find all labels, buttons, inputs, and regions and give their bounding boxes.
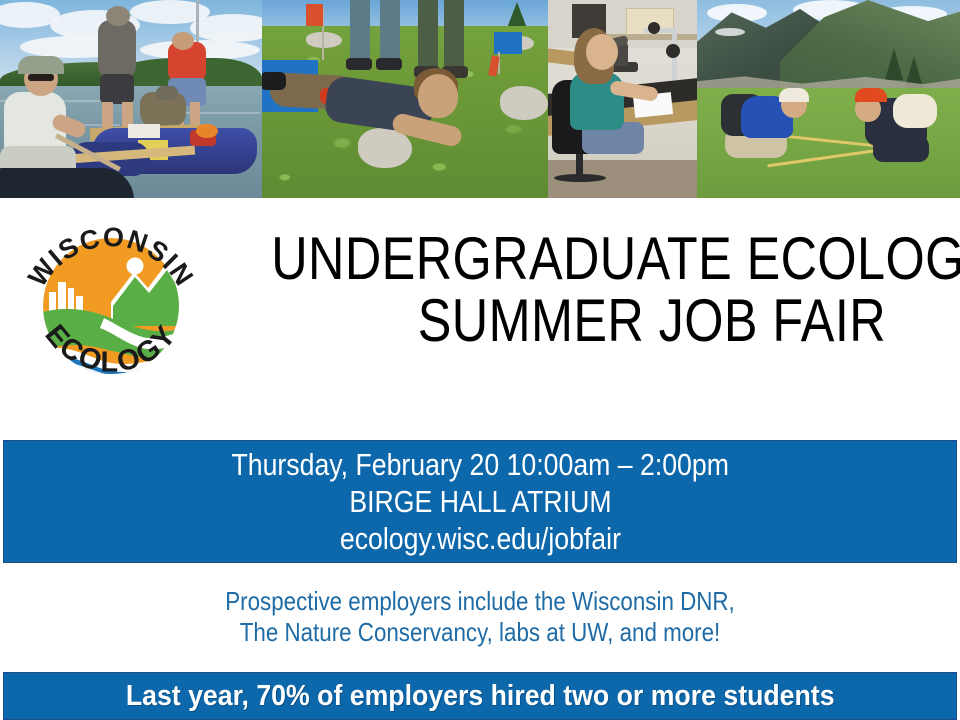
rock — [500, 86, 548, 120]
person-hat — [106, 6, 130, 26]
page-title: UNDERGRADUATE ECOLOGY SUMMER JOB FAIR — [212, 228, 952, 352]
employers-note: Prospective employers include the Wiscon… — [0, 586, 960, 648]
conifer-tree — [885, 48, 903, 80]
person-cap — [18, 56, 64, 74]
blue-survey-flag — [494, 32, 522, 54]
event-url[interactable]: ecology.wisc.edu/jobfair — [339, 520, 620, 557]
snow-patch — [715, 28, 745, 36]
employers-line-2: The Nature Conservancy, labs at UW, and … — [67, 617, 893, 648]
event-details-banner: Thursday, February 20 10:00am – 2:00pm B… — [3, 440, 957, 563]
title-line-1: UNDERGRADUATE ECOLOGY — [271, 228, 893, 290]
life-ring — [196, 124, 218, 138]
person-leg — [444, 0, 464, 72]
boot — [262, 72, 286, 90]
alpine-valley-survey-photo — [697, 0, 960, 198]
adjustment-knob — [666, 44, 680, 58]
lab-microscope-photo — [548, 0, 697, 198]
person-head — [586, 34, 618, 70]
boot — [376, 58, 402, 70]
canoe — [0, 168, 134, 198]
chair-base — [554, 174, 606, 182]
person-shorts — [100, 74, 134, 104]
red-survey-flag — [306, 4, 323, 26]
person-leg — [380, 0, 400, 62]
person-leg — [418, 0, 438, 72]
person-head — [418, 74, 458, 118]
person-cap — [855, 88, 887, 102]
lake-boat-sampling-photo — [0, 0, 262, 198]
person-leg — [350, 0, 370, 64]
equipment-box — [128, 124, 160, 138]
prone-vegetation-survey-photo — [262, 0, 548, 198]
hiring-stat-banner: Last year, 70% of employers hired two or… — [3, 672, 957, 720]
person-standing — [98, 20, 136, 78]
person-hat — [156, 86, 178, 100]
adjustment-knob — [648, 22, 660, 34]
boot — [346, 58, 372, 70]
sunglasses — [28, 74, 54, 81]
rock — [306, 32, 342, 48]
event-location: BIRGE HALL ATRIUM — [349, 483, 611, 520]
person-sleeve — [893, 94, 937, 128]
title-line-2: SUMMER JOB FAIR — [271, 290, 893, 352]
photo-strip — [0, 0, 960, 198]
hiring-stat-text: Last year, 70% of employers hired two or… — [126, 680, 835, 713]
wisconsin-ecology-logo: WISCONSIN ECOLOGY — [16, 206, 206, 406]
person-cap — [779, 88, 809, 102]
event-datetime: Thursday, February 20 10:00am – 2:00pm — [231, 446, 728, 483]
person-head — [172, 32, 194, 50]
employers-line-1: Prospective employers include the Wiscon… — [67, 586, 893, 617]
